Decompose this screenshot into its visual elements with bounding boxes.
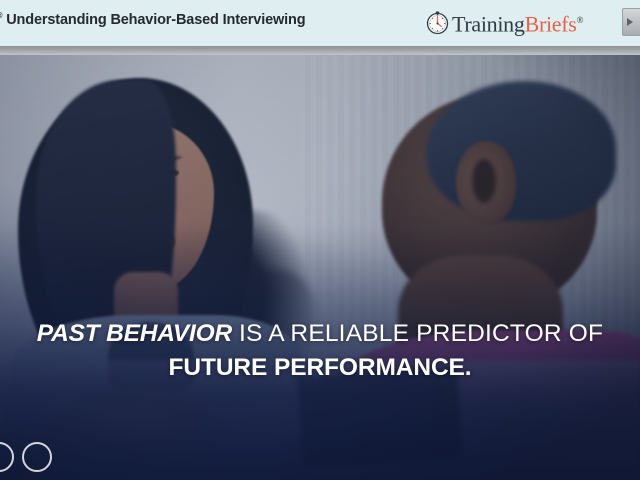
- logo-registered-mark-icon: ®: [577, 15, 584, 25]
- video-stage[interactable]: PAST BEHAVIOR IS A RELIABLE PREDICTOR OF…: [0, 55, 640, 480]
- logo-wordmark: TrainingBriefs®: [452, 8, 583, 36]
- stopwatch-icon: [425, 10, 450, 35]
- page-title-rest: Understanding Behavior-Based Interviewin…: [2, 12, 305, 28]
- header-divider: [0, 46, 640, 55]
- slide-dot-2[interactable]: [22, 442, 52, 472]
- slide-dot-1[interactable]: [0, 442, 14, 472]
- trainingbriefs-logo: TrainingBriefs®: [425, 7, 583, 37]
- vignette-overlay: [0, 55, 640, 480]
- page-header: Briefs® Understanding Behavior-Based Int…: [0, 0, 640, 46]
- page-subtitle: ion: [0, 30, 305, 46]
- interview-photo: [0, 55, 640, 480]
- page-title: Briefs® Understanding Behavior-Based Int…: [0, 6, 305, 29]
- header-title-block: Briefs® Understanding Behavior-Based Int…: [0, 6, 305, 46]
- logo-word-training: Training: [452, 11, 525, 36]
- slide-indicator-group[interactable]: [0, 442, 52, 472]
- next-button[interactable]: [622, 8, 640, 36]
- logo-word-briefs: Briefs: [525, 11, 577, 36]
